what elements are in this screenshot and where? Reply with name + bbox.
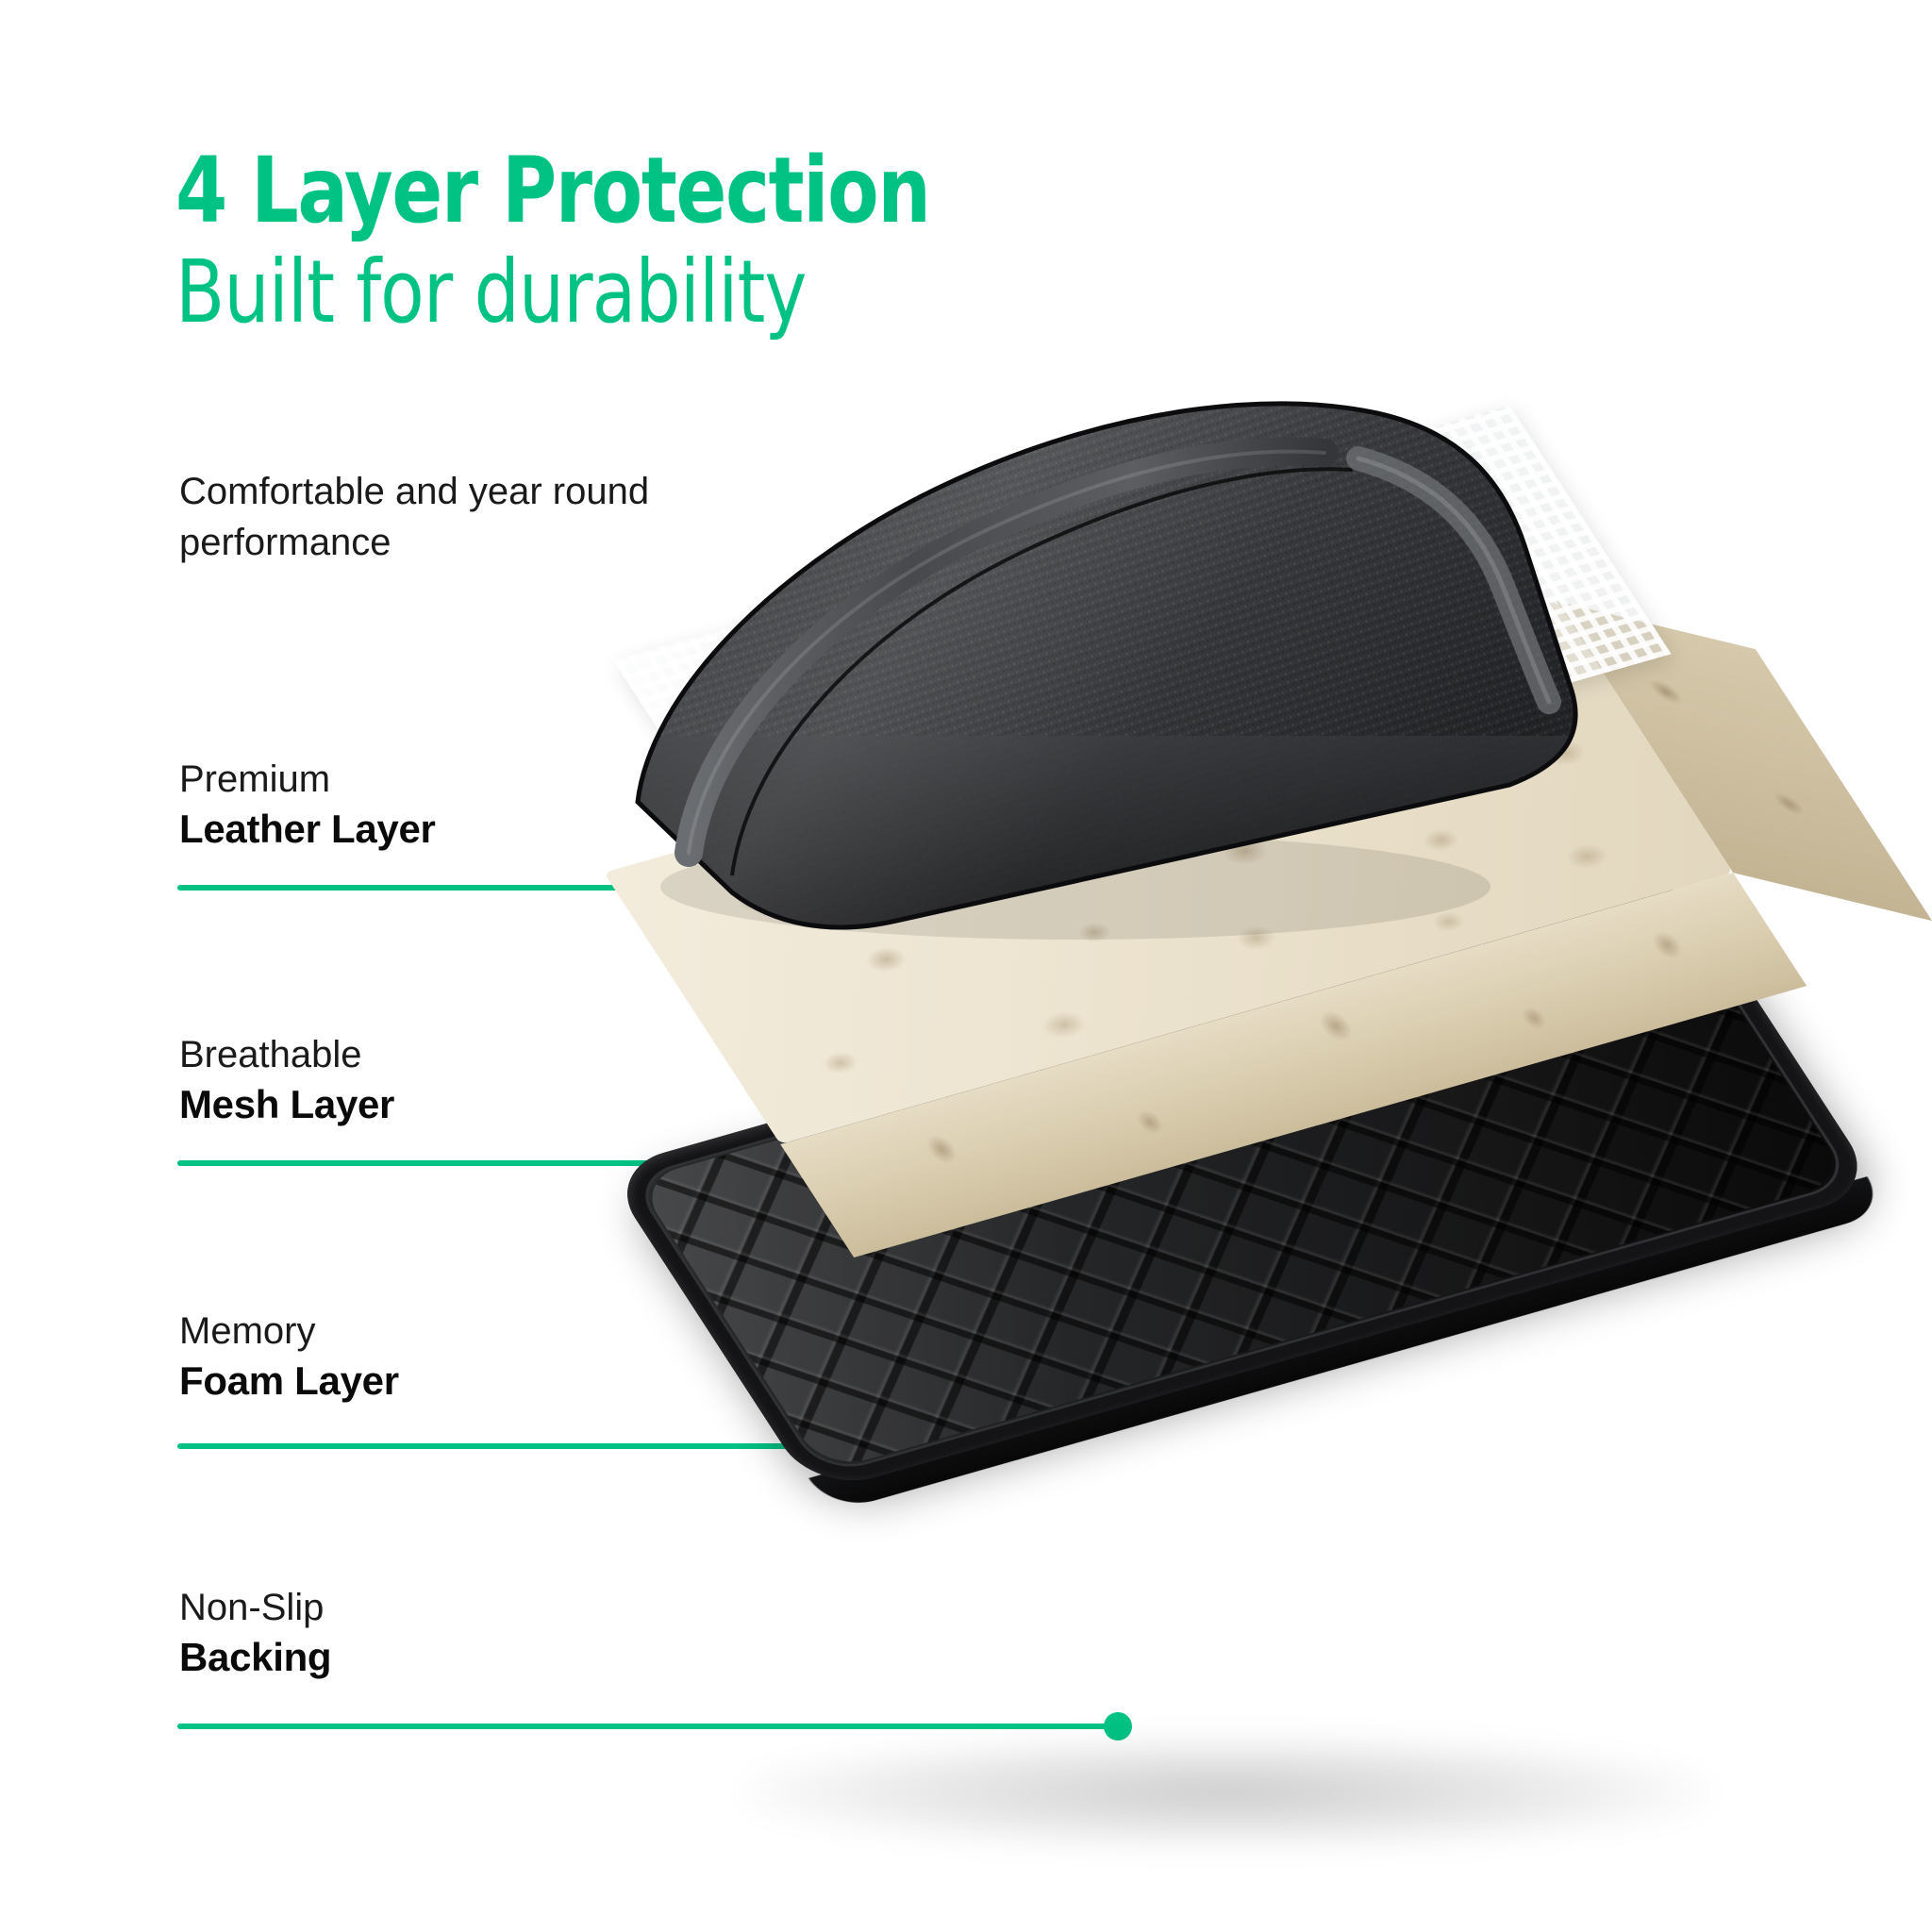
- infographic-canvas: 4 Layer Protection Built for durability …: [0, 0, 1932, 1932]
- leather-layer-shell: [547, 358, 1613, 943]
- callout-foam-bottom-label: Foam Layer: [179, 1356, 399, 1407]
- callout-mesh: Breathable Mesh Layer: [179, 1030, 394, 1130]
- callout-foam-top-label: Memory: [179, 1307, 399, 1356]
- page-subtitle: Built for durability: [175, 245, 1130, 340]
- floor-shadow: [745, 1736, 1707, 1849]
- headline-block: 4 Layer Protection Built for durability: [175, 142, 1213, 340]
- callout-mesh-bottom-label: Mesh Layer: [179, 1079, 394, 1130]
- callout-mesh-top-label: Breathable: [179, 1030, 394, 1079]
- callout-leather-bottom-label: Leather Layer: [179, 804, 436, 855]
- callout-backing-bottom-label: Backing: [179, 1632, 331, 1683]
- callout-foam: Memory Foam Layer: [179, 1307, 399, 1407]
- callout-leather: Premium Leather Layer: [179, 755, 436, 855]
- page-title: 4 Layer Protection: [175, 142, 1130, 240]
- leather-layer: [547, 358, 1613, 943]
- callout-backing: Non-Slip Backing: [179, 1583, 331, 1683]
- product-exploded-view: [604, 443, 1906, 1858]
- callout-leather-top-label: Premium: [179, 755, 436, 804]
- callout-backing-top-label: Non-Slip: [179, 1583, 331, 1632]
